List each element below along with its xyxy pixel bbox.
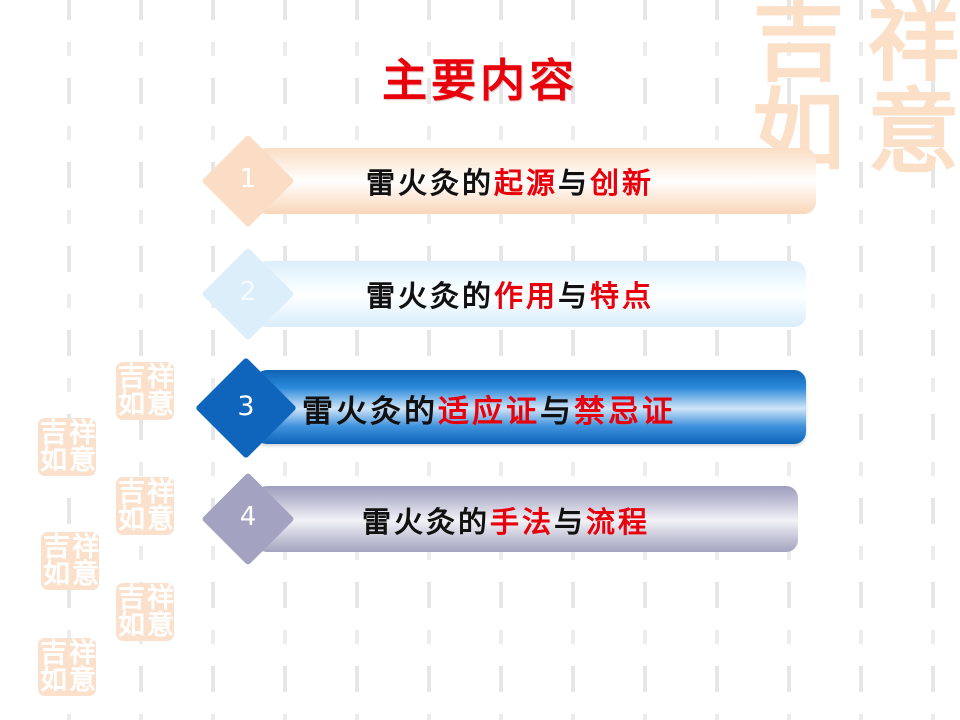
agenda-label-segment: 雷火灸的 <box>302 394 438 430</box>
seal-char: 祥 <box>70 534 99 561</box>
agenda-label-segment: 雷火灸的 <box>362 505 490 539</box>
agenda-row-label: 雷火灸的作用与特点 <box>366 273 654 315</box>
seal-stamp-small: 吉 祥 如 意 <box>116 583 174 641</box>
seal-char: 祥 <box>145 585 174 612</box>
seal-char: 如 <box>116 391 145 418</box>
seal-char: 祥 <box>145 364 174 391</box>
agenda-row-label: 雷火灸的适应证与禁忌证 <box>302 386 676 431</box>
seal-char: 如 <box>116 506 145 533</box>
slide-canvas: 吉 祥 如 意 吉 祥 如 意 吉 祥 如 意 吉 祥 如 意 吉 祥 如 意 … <box>0 0 960 720</box>
seal-char: 意 <box>67 667 96 694</box>
agenda-row-label: 雷火灸的起源与创新 <box>366 160 654 202</box>
seal-char: 如 <box>41 561 70 588</box>
seal-char: 吉 <box>38 640 67 667</box>
seal-char: 祥 <box>67 640 96 667</box>
agenda-label-segment: 起源 <box>494 166 558 200</box>
seal-char: 如 <box>38 667 67 694</box>
seal-char: 意 <box>67 447 96 474</box>
agenda-label-segment: 雷火灸的 <box>366 279 494 313</box>
page-title: 主要内容 <box>0 44 960 109</box>
agenda-label-segment: 雷火灸的 <box>366 166 494 200</box>
agenda-label-segment: 与 <box>554 505 586 539</box>
seal-char: 祥 <box>145 479 174 506</box>
seal-char: 吉 <box>116 364 145 391</box>
seal-char: 祥 <box>67 420 96 447</box>
agenda-label-segment: 与 <box>540 394 574 430</box>
seal-char: 吉 <box>116 585 145 612</box>
seal-char: 吉 <box>38 420 67 447</box>
agenda-number-label: 3 <box>210 370 282 442</box>
seal-stamp-small: 吉 祥 如 意 <box>38 638 96 696</box>
seal-char: 如 <box>38 447 67 474</box>
seal-char: 意 <box>145 612 174 639</box>
agenda-number-label: 4 <box>215 484 281 550</box>
agenda-label-segment: 与 <box>558 166 590 200</box>
agenda-label-segment: 作用 <box>494 279 558 313</box>
agenda-label-segment: 流程 <box>586 505 650 539</box>
agenda-label-segment: 手法 <box>490 505 554 539</box>
agenda-label-segment: 适应证 <box>438 394 540 430</box>
agenda-label-segment: 特点 <box>590 279 654 313</box>
seal-char: 吉 <box>41 534 70 561</box>
seal-char: 意 <box>145 391 174 418</box>
agenda-number-label: 2 <box>215 259 281 325</box>
agenda-label-segment: 与 <box>558 279 590 313</box>
agenda-number-label: 1 <box>215 146 281 212</box>
agenda-label-segment: 禁忌证 <box>574 394 676 430</box>
seal-stamp-small: 吉 祥 如 意 <box>116 477 174 535</box>
seal-char: 吉 <box>116 479 145 506</box>
seal-stamp-small: 吉 祥 如 意 <box>38 418 96 476</box>
agenda-label-segment: 创新 <box>590 166 654 200</box>
seal-char: 如 <box>116 612 145 639</box>
seal-stamp-small: 吉 祥 如 意 <box>116 362 174 420</box>
seal-stamp-small: 吉 祥 如 意 <box>41 532 99 590</box>
agenda-row-label: 雷火灸的手法与流程 <box>362 499 650 541</box>
seal-char: 意 <box>70 561 99 588</box>
seal-char: 意 <box>145 506 174 533</box>
